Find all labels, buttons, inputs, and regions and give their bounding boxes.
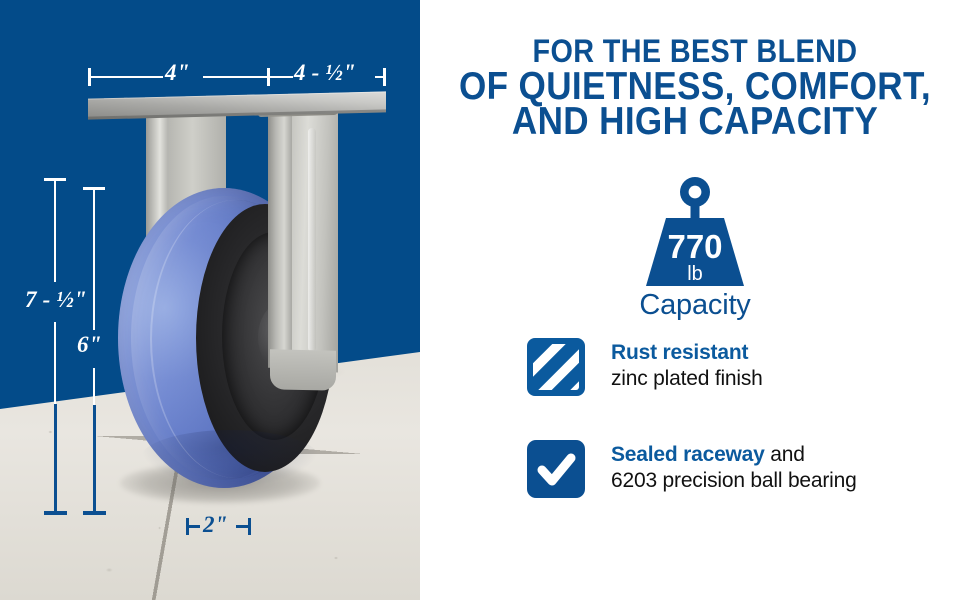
dimension-line-2in-left xyxy=(188,525,200,528)
feature-title-suffix: and xyxy=(765,443,805,466)
feature-subtitle: 6203 precision ball bearing xyxy=(611,468,857,494)
headline-line-1: FOR THE BEST BLEND xyxy=(448,34,943,69)
feature-row: Sealed raceway and 6203 precision ball b… xyxy=(525,438,970,500)
dimension-line-7half-upper xyxy=(54,180,56,282)
dimension-tick-bottom-7half xyxy=(44,511,67,515)
capacity-label: Capacity xyxy=(420,290,970,320)
dimension-tick-bottom-6in xyxy=(83,511,106,515)
dimension-line-6in-upper xyxy=(93,189,95,330)
headline: FOR THE BEST BLEND OF QUIETNESS, COMFORT… xyxy=(448,34,943,139)
diagonal-stripes-icon xyxy=(525,336,587,398)
dimension-label-wheel-diameter: 6" xyxy=(77,332,102,358)
feature-row: Rust resistant zinc plated finish xyxy=(525,336,970,398)
checkmark-icon xyxy=(525,438,587,500)
feature-title: Rust resistant xyxy=(611,341,748,364)
dimension-tick-right-2in xyxy=(248,518,251,535)
dimension-label-overall-height: 7 - ½" xyxy=(25,287,87,313)
caster-wheel-contact-shading xyxy=(140,430,320,488)
feature-text: Rust resistant zinc plated finish xyxy=(611,336,763,392)
weight-icon: 770 lb xyxy=(636,176,754,288)
feature-subtitle: zinc plated finish xyxy=(611,366,763,392)
headline-line-2: OF QUIETNESS, COMFORT, xyxy=(448,69,943,104)
capacity-unit: lb xyxy=(687,263,703,285)
product-photo-panel: 4" 4 - ½" 7 - ½" 6" xyxy=(0,0,420,600)
capacity-badge: 770 lb Capacity xyxy=(420,176,970,320)
dimension-line-6in-lower-white xyxy=(93,368,95,407)
caster-fork-leg-near xyxy=(268,110,294,369)
dimension-label-plate-width: 4 - ½" xyxy=(294,60,356,86)
feature-title: Sealed raceway xyxy=(611,443,765,466)
dimension-line-left-b xyxy=(203,76,269,78)
dimension-label-plate-length: 4" xyxy=(165,60,190,86)
headline-line-3: AND HIGH CAPACITY xyxy=(448,104,943,139)
dimension-line-right-b xyxy=(375,76,385,78)
dimension-line-6in-lower-blue xyxy=(93,405,96,514)
product-infographic: 4" 4 - ½" 7 - ½" 6" xyxy=(0,0,970,600)
capacity-value: 770 xyxy=(667,228,722,265)
dimension-line-left-a xyxy=(90,76,163,78)
dimension-line-7half-lower-blue xyxy=(54,404,57,514)
dimension-line-7half-lower-white xyxy=(54,322,56,406)
dimension-line-right-a xyxy=(269,76,293,78)
caster-fork-leg-rib xyxy=(308,128,316,352)
feature-text: Sealed raceway and 6203 precision ball b… xyxy=(611,438,857,494)
caster-fork-leg-foot xyxy=(270,349,336,390)
content-panel: FOR THE BEST BLEND OF QUIETNESS, COMFORT… xyxy=(420,0,970,600)
dimension-label-tread-width: 2" xyxy=(203,512,228,538)
